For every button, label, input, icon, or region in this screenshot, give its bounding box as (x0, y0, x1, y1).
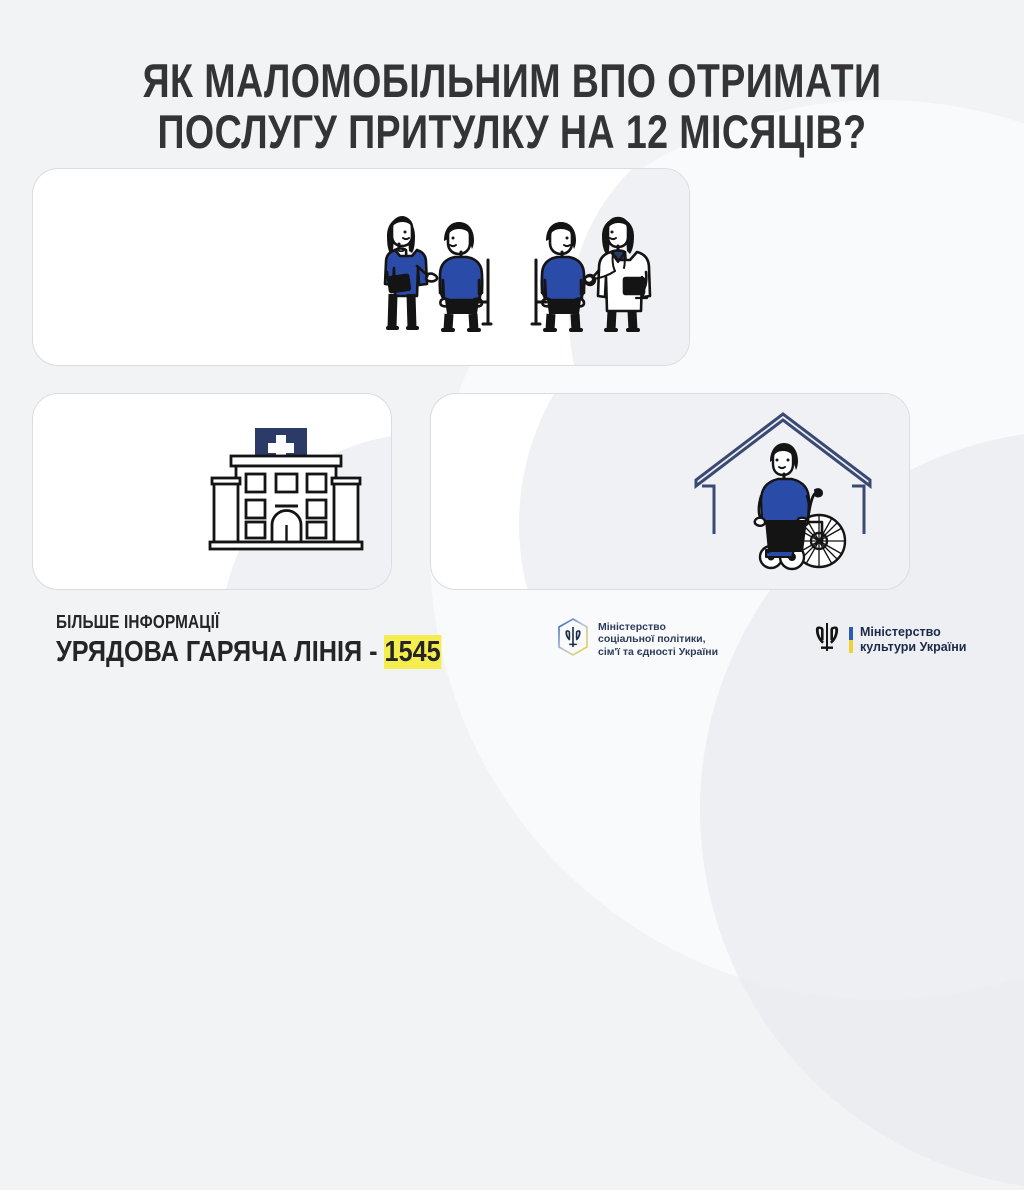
trident-icon (812, 620, 842, 659)
medical-examination-illustration (528, 206, 678, 337)
footer-contact-info: БІЛЬШЕ ІНФОРМАЦІЇ УРЯДОВА ГАРЯЧА ЛІНІЯ -… (56, 612, 498, 669)
logo-ministry-culture-label: Міністерство культури України (860, 625, 966, 654)
logo-ministry-culture: Міністерство культури України (812, 620, 966, 659)
hotline-line: УРЯДОВА ГАРЯЧА ЛІНІЯ - 1545 (56, 636, 498, 669)
more-info-label: БІЛЬШЕ ІНФОРМАЦІЇ (56, 612, 498, 633)
logo-ministry-social-policy: Міністерство соціальної політики, сім'ї … (556, 618, 718, 661)
logo-ministry-social-policy-label: Міністерство соціальної політики, сім'ї … (598, 621, 718, 659)
wheelchair-user-in-house-illustration (688, 410, 878, 585)
trident-hexagon-icon (556, 618, 590, 661)
hospital-building-illustration (206, 412, 366, 567)
social-worker-interview-illustration (365, 206, 515, 337)
page-title: ЯК МАЛОМОБІЛЬНИМ ВПО ОТРИМАТИ ПОСЛУГУ ПР… (102, 55, 921, 157)
hotline-label: УРЯДОВА ГАРЯЧА ЛІНІЯ - (56, 636, 385, 668)
ukraine-flag-bar-icon (849, 627, 853, 653)
hotline-number: 1545 (385, 636, 441, 668)
